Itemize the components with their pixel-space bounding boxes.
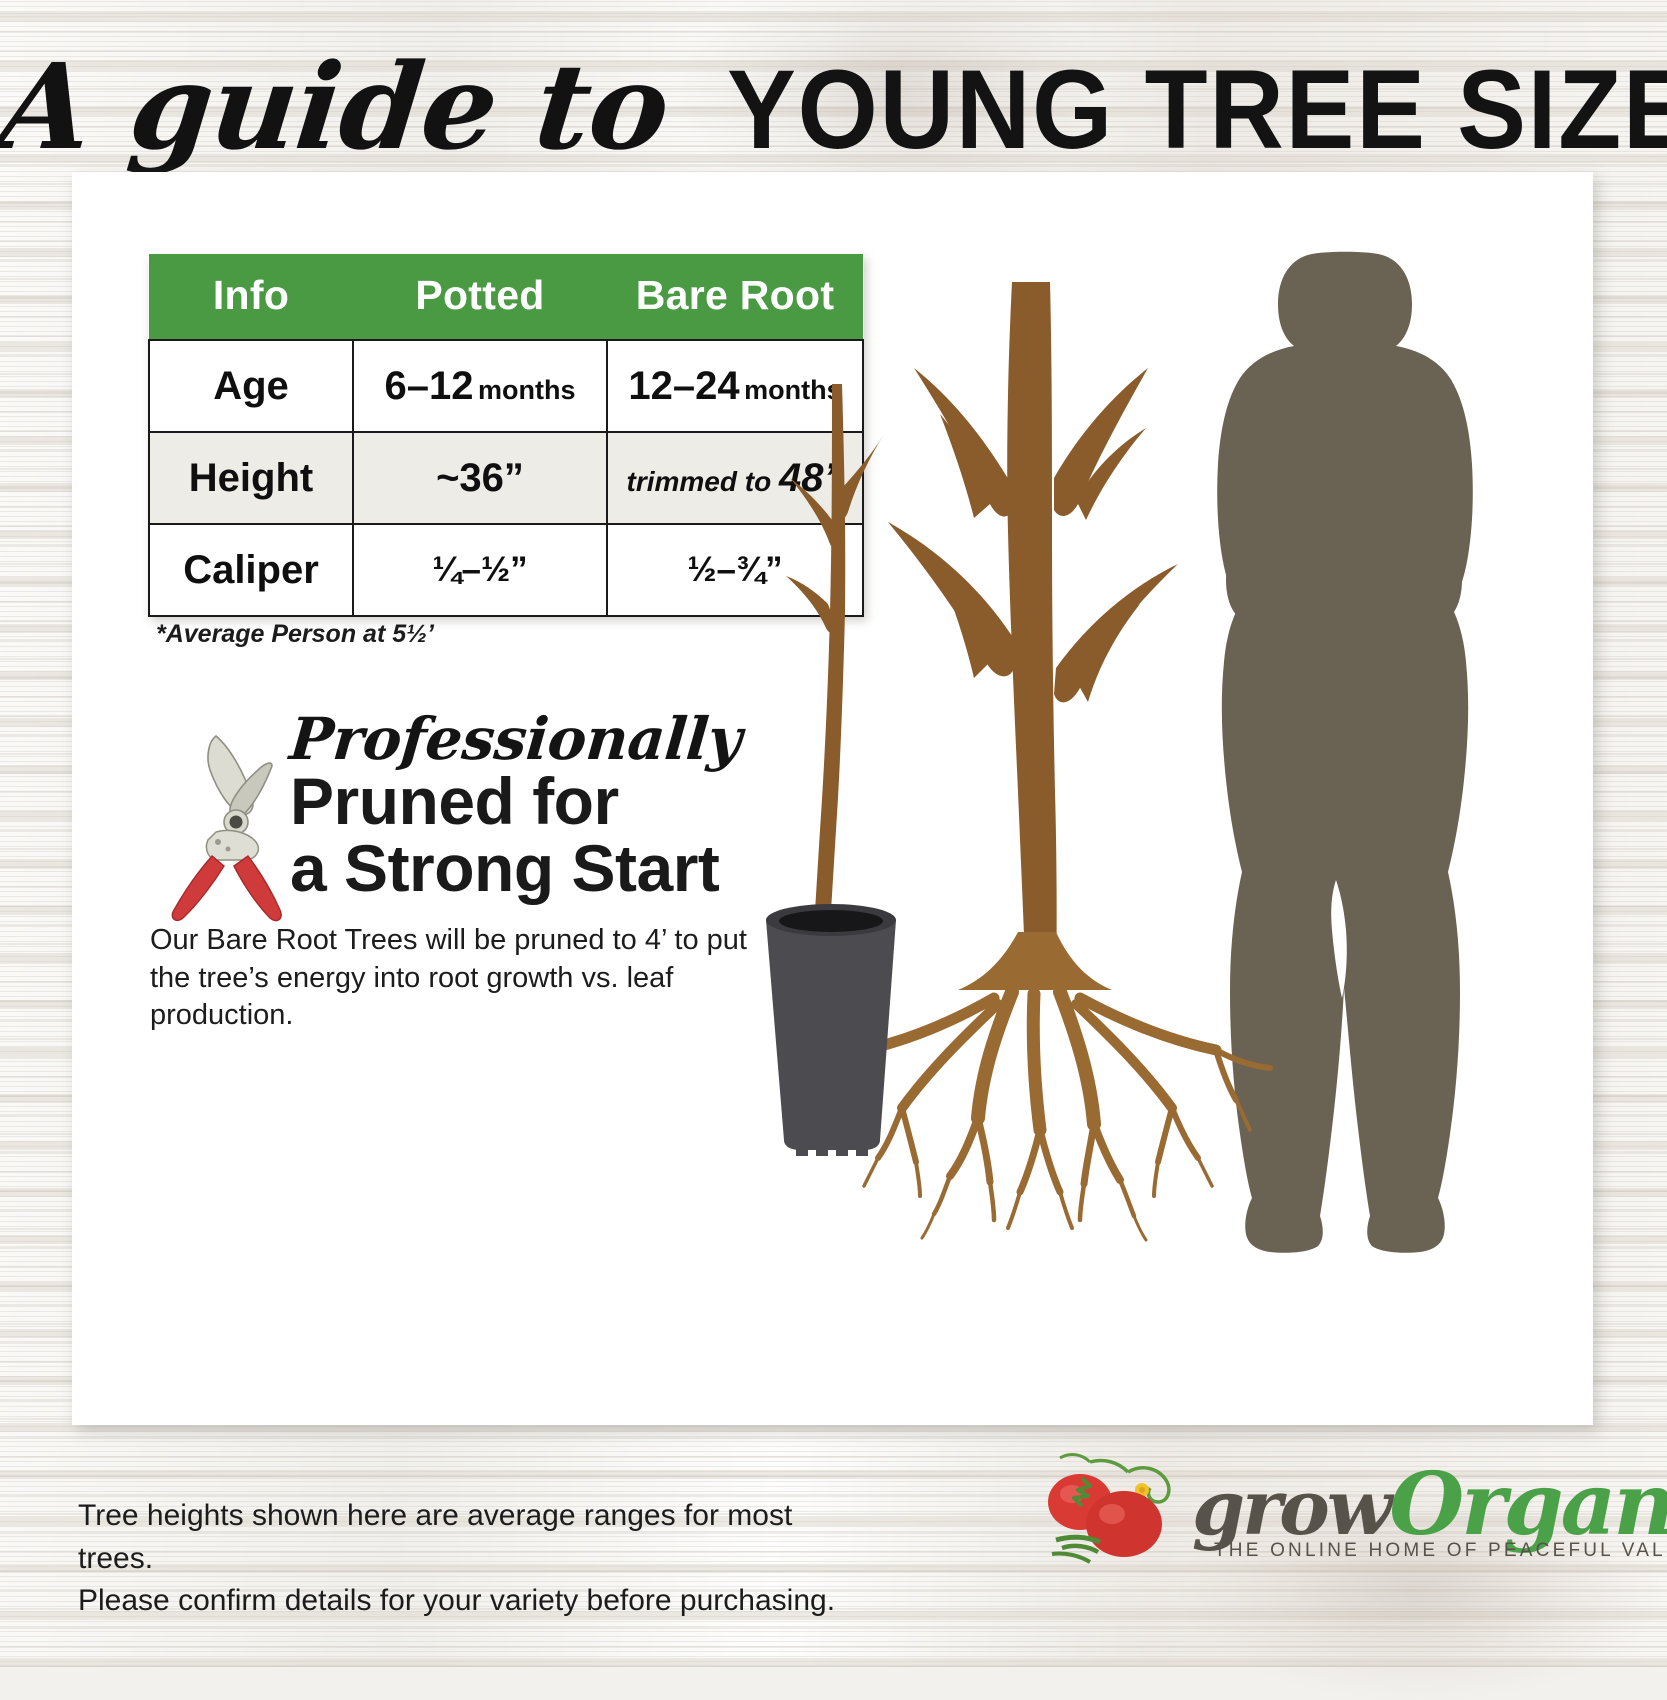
pruning-shears-icon bbox=[156, 714, 288, 924]
page-title-block: YOUNG TREE SIZES bbox=[727, 54, 1667, 166]
logo-grow-text: grow bbox=[1192, 1463, 1389, 1552]
bottom-disclaimer-line2: Please confirm details for your variety … bbox=[78, 1580, 838, 1623]
pruned-body-line2: the tree’s energy into root growth vs. l… bbox=[150, 960, 770, 1035]
cell-height-potted: ~36” bbox=[353, 432, 607, 524]
row-label-height: Height bbox=[149, 432, 353, 524]
potted-tree bbox=[766, 384, 896, 1156]
column-header-info: Info bbox=[149, 254, 353, 340]
pruned-body-line1: Our Bare Root Trees will be pruned to 4’… bbox=[150, 922, 770, 960]
bottom-disclaimer: Tree heights shown here are average rang… bbox=[78, 1495, 838, 1623]
brand-logo[interactable]: growOrganic.COM THE ONLINE HOME OF PEACE… bbox=[1032, 1434, 1612, 1584]
logo-tagline: THE ONLINE HOME OF PEACEFUL VALLEY bbox=[1214, 1540, 1634, 1562]
tree-size-illustration bbox=[712, 232, 1572, 1412]
column-header-potted: Potted bbox=[353, 254, 607, 340]
cell-age-potted-unit: months bbox=[478, 375, 576, 405]
logo-tagline-part2: OF PEACEFUL VALLEY bbox=[1447, 1540, 1667, 1561]
row-label-caliper: Caliper bbox=[149, 524, 353, 616]
logo-tagline-part1: THE ONLINE HOME bbox=[1214, 1540, 1447, 1561]
row-label-age: Age bbox=[149, 340, 353, 432]
page-title-script: A guide to bbox=[0, 48, 674, 166]
cell-caliper-potted: ¼–½” bbox=[353, 524, 607, 616]
content-card: Info Potted Bare Root Age 6–12 months 12… bbox=[72, 172, 1593, 1425]
bottom-disclaimer-line1: Tree heights shown here are average rang… bbox=[78, 1495, 838, 1580]
table-footnote: *Average Person at 5½’ bbox=[156, 620, 434, 649]
cell-age-potted: 6–12 months bbox=[353, 340, 607, 432]
page-title: A guide toYOUNG TREE SIZES bbox=[0, 48, 1667, 166]
pruned-body-text: Our Bare Root Trees will be pruned to 4’… bbox=[150, 922, 770, 1035]
cell-age-potted-value: 6–12 bbox=[385, 364, 474, 408]
